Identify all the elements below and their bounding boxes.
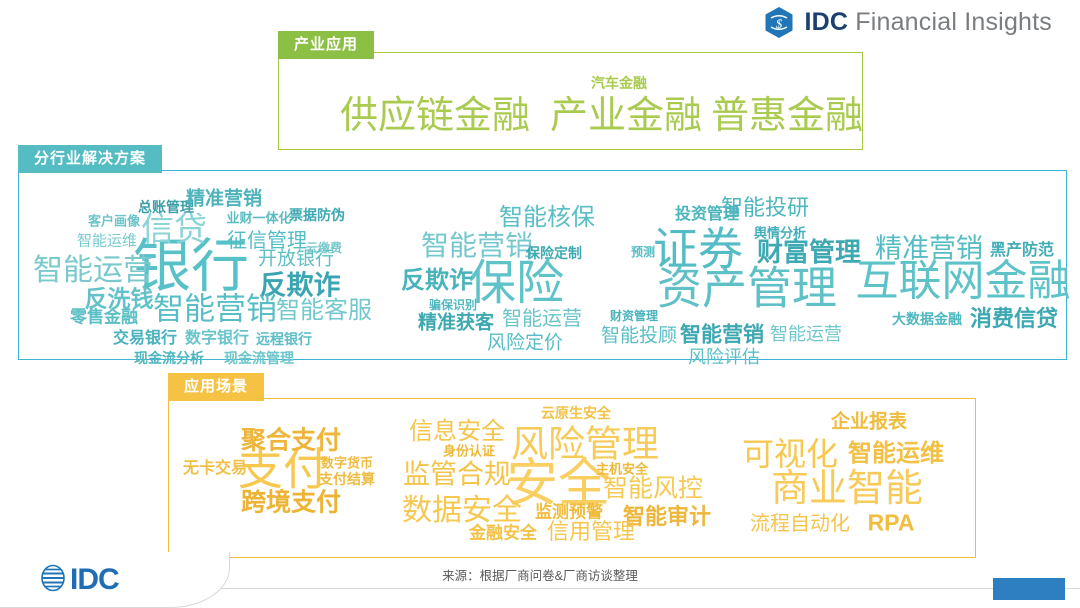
cloud-word: 智能核保 [499,206,595,230]
cloud-word: 精准营销 [875,236,983,263]
cloud-word: RPA [868,512,915,535]
wordcloud-industry: 供应链金融产业金融汽车金融普惠金融 [279,53,862,149]
cloud-word: 信贷 [141,213,207,246]
cloud-word: 智能营销 [421,232,533,260]
cloud-word: 监测预警 [535,504,603,521]
cloud-word: 交易银行 [113,331,177,347]
cloud-word: 数字货币 [321,457,373,470]
cloud-word: 信用管理 [547,521,635,543]
cloud-word: 智能客服 [276,299,372,323]
cloud-word: 资产管理 [657,266,837,311]
cloud-word: 普惠金融 [711,97,863,135]
cloud-word: 数字银行 [185,331,249,347]
cloud-word: 骗保识别 [429,299,477,311]
section-application-scenarios: 应用场景 支付聚合支付无卡交易数字货币支付结算跨境支付风险管理安全信息安全云原生… [168,398,976,558]
cloud-word: 智能审计 [623,506,711,528]
cloud-word: 大数据金融 [892,312,962,326]
cloud-word: 现金流管理 [224,351,294,365]
section-vertical-solutions: 分行业解决方案 银行信贷总账管理精准营销客户画像智能运维业财一体化票据防伪征信管… [18,170,1067,360]
cloud-word: 云原生安全 [541,406,611,420]
section-tag-scenario: 应用场景 [168,373,264,401]
cloud-word: 互联网金融 [856,261,1071,304]
cloud-word: 零售金融 [70,309,138,326]
cloud-word: 无卡交易 [183,461,247,477]
cloud-word: 商业智能 [771,470,923,508]
cloud-word: 智能营销 [153,294,277,325]
brand-name-light: Financial Insights [848,8,1052,36]
cloud-word: 智能风控 [603,477,703,502]
cloud-word: 监管合规 [403,462,511,489]
cloud-word: 票据防伪 [289,208,345,222]
cloud-word: 智能运维 [77,234,137,249]
cloud-word: 金融安全 [469,525,537,542]
cloud-word: 消费信贷 [970,308,1058,330]
cloud-word: 保险定制 [526,246,582,260]
cloud-word: 数据安全 [402,496,522,526]
cloud-word: 企业报表 [831,413,907,432]
cloud-word: 智能投顾 [601,327,677,346]
brand-wordmark: IDC Financial Insights [804,8,1052,37]
cloud-word: 智能营销 [680,325,764,346]
cloud-word: 开放银行 [258,250,334,269]
cloud-word: 可视化 [742,438,838,470]
cloud-word: 供应链金融 [340,97,530,135]
cloud-word: 智能运营 [770,325,842,343]
cloud-word: 精准获客 [418,314,494,333]
cloud-word: 保险 [468,260,564,308]
cloud-word: 投资管理 [675,207,739,223]
cloud-word: 精准营销 [186,190,262,209]
cloud-word: 黑产防范 [990,243,1054,259]
cloud-word: 智能运营 [502,309,582,329]
cloud-word: 现金流分析 [134,351,204,365]
cloud-word: 风险定价 [487,334,563,353]
cloud-word: 业财一体化 [226,212,291,225]
wordcloud-scenario: 支付聚合支付无卡交易数字货币支付结算跨境支付风险管理安全信息安全云原生安全身份认… [169,399,975,557]
idc-financial-insights-brand: $ IDC Financial Insights [764,6,1052,39]
footer-accent-block [993,578,1065,600]
slide-canvas: $ IDC Financial Insights 产业应用 供应链金融产业金融汽… [0,0,1080,608]
cloud-word: 远程银行 [256,332,312,346]
cloud-word: 流程自动化 [750,514,850,534]
cloud-word: 产业金融 [550,97,702,135]
cloud-word: 智能运营 [33,256,153,286]
cloud-word: 汽车金融 [591,76,647,90]
cloud-word: 跨境支付 [241,491,341,516]
section-industry-application: 产业应用 供应链金融产业金融汽车金融普惠金融 [278,52,863,150]
idc-hex-logo-icon: $ [764,6,794,39]
cloud-word: 聚合支付 [241,429,341,454]
cloud-word: 智能运维 [848,442,944,466]
cloud-word: 支付结算 [319,472,375,486]
wordcloud-vertical: 银行信贷总账管理精准营销客户画像智能运维业财一体化票据防伪征信管理云缴费智能运营… [19,171,1066,359]
cloud-word: 风险评估 [688,348,760,366]
cloud-word: 客户画像 [88,215,140,228]
cloud-word: 反欺诈 [401,269,473,293]
section-tag-vertical: 分行业解决方案 [18,145,162,173]
cloud-word: 身份认证 [443,445,495,458]
cloud-word: 预测 [631,246,655,258]
cloud-word: 财富管理 [757,239,861,265]
brand-name-bold: IDC [804,8,848,36]
cloud-word: 信息安全 [409,420,505,444]
cloud-word: 财资管理 [610,310,658,322]
source-note: 来源：根据厂商问卷&厂商访谈整理 [0,565,1080,584]
